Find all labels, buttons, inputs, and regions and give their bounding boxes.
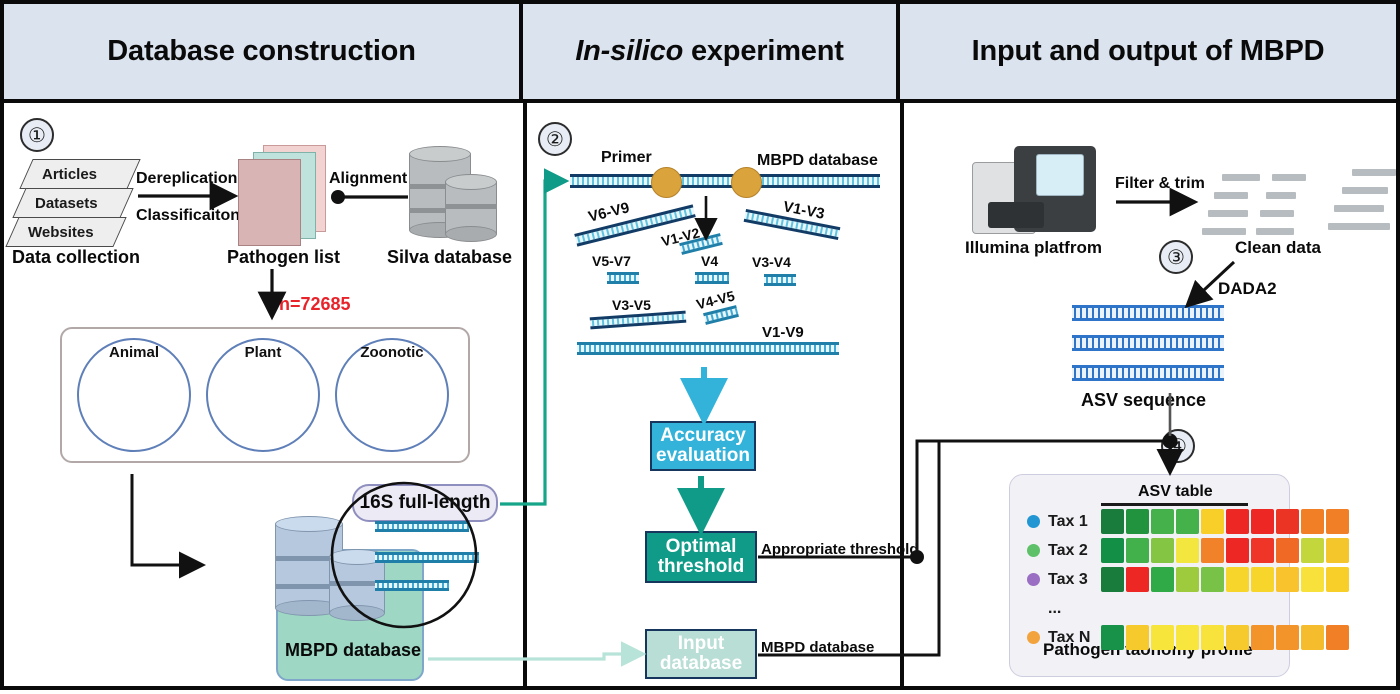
heatmap-cell	[1251, 509, 1274, 534]
tax-label: Tax 1	[1048, 513, 1088, 531]
illumina-screen	[1036, 154, 1084, 196]
clean-read-bar	[1354, 205, 1384, 212]
heatmap-cell	[1126, 567, 1149, 592]
tax-dot	[1027, 573, 1040, 586]
accuracy-evaluation-box[interactable]: Accuracy evaluation	[650, 421, 756, 471]
heatmap-cell	[1151, 625, 1174, 650]
heatmap-cell	[1176, 625, 1199, 650]
badge-16s-label: 16S full-length	[360, 492, 491, 514]
document-label-websites: Websites	[28, 224, 94, 241]
alignment-label: Alignment	[329, 170, 407, 188]
panel-divider-1	[523, 103, 527, 686]
heatmap-cell	[1101, 567, 1124, 592]
amplicon-label-v3-v5: V3-V5	[612, 297, 651, 313]
amplicon-v3-v4	[764, 274, 796, 286]
pathogen-sheet-front	[238, 159, 301, 246]
amplicon-label-v1-v9: V1-V9	[762, 324, 804, 341]
heatmap-row	[1101, 538, 1349, 563]
input-line-2: database	[660, 654, 742, 674]
clean-read-bar	[1214, 192, 1248, 199]
edge-label-mbpd-database: MBPD database	[761, 639, 874, 656]
heatmap-cell	[1276, 538, 1299, 563]
clean-read-bar	[1202, 228, 1246, 235]
clean-read-bar	[1354, 223, 1390, 230]
tax-label: Tax 2	[1048, 542, 1088, 560]
panel-header-input-output: Input and output of MBPD	[900, 4, 1396, 103]
heatmap-cell	[1276, 509, 1299, 534]
asv-table-label: ASV table	[1138, 483, 1213, 501]
panel2-title-rest: experiment	[683, 35, 844, 67]
classification-label: Classificaiton	[136, 207, 240, 225]
optimal-line-2: threshold	[658, 557, 745, 577]
asv-sequence-label: ASV sequence	[1081, 390, 1206, 411]
primer-bead-left	[651, 167, 682, 198]
heatmap-cell	[1101, 538, 1124, 563]
step-marker-3: ③	[1159, 240, 1193, 274]
clean-read-bar	[1354, 187, 1388, 194]
silva-label: Silva database	[387, 247, 512, 268]
tax-dot	[1027, 515, 1040, 528]
input-line-1: Input	[678, 634, 724, 654]
panel-header-in-silico: In-silico experiment	[523, 4, 900, 103]
heatmap-cell	[1326, 625, 1349, 650]
document-label-articles: Articles	[42, 166, 97, 183]
magnified-dna-strand-3	[375, 580, 449, 591]
heatmap-cell	[1201, 538, 1224, 563]
clean-read-bar	[1272, 174, 1306, 181]
filter-trim-label: Filter & trim	[1115, 175, 1205, 193]
heatmap-cell	[1101, 509, 1124, 534]
heatmap-cell	[1251, 538, 1274, 563]
category-label-plant: Plant	[206, 344, 320, 361]
magnified-dna-strand-1	[375, 521, 469, 532]
amplicon-v1-v9	[577, 342, 839, 355]
heatmap-cell	[1301, 509, 1324, 534]
panel-header-database-construction: Database construction	[4, 4, 523, 103]
step-marker-1: ①	[20, 118, 54, 152]
panel2-title: In-silico experiment	[575, 35, 843, 68]
pathogen-count-label: n=72685	[279, 294, 351, 315]
heatmap-cell	[1226, 538, 1249, 563]
primer-label: Primer	[601, 149, 652, 167]
asv-strand-3	[1072, 365, 1224, 381]
heatmap-cell	[1176, 538, 1199, 563]
heatmap-cell	[1151, 567, 1174, 592]
clean-data-label: Clean data	[1235, 238, 1321, 258]
amplicon-label-v3-v4: V3-V4	[752, 254, 791, 270]
template-dna-strand	[570, 174, 880, 188]
mbpd-db-label-panel2: MBPD database	[757, 152, 878, 170]
dereplication-label: Dereplication	[136, 170, 237, 188]
tax-label: ...	[1048, 600, 1061, 618]
heatmap-cell	[1126, 538, 1149, 563]
heatmap-cell	[1201, 625, 1224, 650]
heatmap-row	[1101, 509, 1349, 534]
heatmap-cell	[1326, 538, 1349, 563]
heatmap-cell	[1276, 567, 1299, 592]
category-label-zoonotic: Zoonotic	[335, 344, 449, 361]
data-collection-label: Data collection	[12, 247, 140, 268]
heatmap-cell	[1301, 538, 1324, 563]
panel-divider-2	[900, 103, 904, 686]
badge-16s-full-length: 16S full-length	[352, 484, 498, 522]
dada2-label: DADA2	[1218, 279, 1277, 299]
panel1-title: Database construction	[107, 35, 415, 68]
illumina-tray	[988, 202, 1044, 228]
heatmap-cell	[1226, 509, 1249, 534]
tax-dot	[1027, 544, 1040, 557]
tax-dot	[1027, 631, 1040, 644]
category-label-animal: Animal	[77, 344, 191, 361]
accuracy-line-2: evaluation	[656, 446, 750, 466]
mbpd-database-label: MBPD database	[285, 640, 421, 661]
heatmap-cell	[1251, 625, 1274, 650]
heatmap-cell	[1201, 509, 1224, 534]
panel3-title: Input and output of MBPD	[972, 35, 1325, 68]
heatmap-cell	[1326, 509, 1349, 534]
accuracy-line-1: Accuracy	[660, 426, 746, 446]
asv-strand-2	[1072, 335, 1224, 351]
pathogen-list-label: Pathogen list	[227, 247, 340, 268]
tax-label: Tax 3	[1048, 571, 1088, 589]
heatmap-cell	[1226, 625, 1249, 650]
heatmap-cell	[1276, 625, 1299, 650]
document-label-datasets: Datasets	[35, 195, 98, 212]
heatmap-cell	[1201, 567, 1224, 592]
heatmap-cell	[1151, 538, 1174, 563]
optimal-threshold-box[interactable]: Optimal threshold	[645, 531, 757, 583]
clean-read-bar	[1266, 192, 1296, 199]
clean-read-bar	[1354, 169, 1394, 176]
asv-strand-1	[1072, 305, 1224, 321]
optimal-line-1: Optimal	[666, 537, 737, 557]
asv-table-rule	[1101, 503, 1248, 506]
heatmap-cell	[1301, 625, 1324, 650]
amplicon-label-v4: V4	[701, 253, 718, 269]
silva-cylinder-front	[445, 174, 497, 242]
heatmap-cell	[1326, 567, 1349, 592]
clean-read-bar	[1208, 210, 1248, 217]
primer-bead-right	[731, 167, 762, 198]
amplicon-label-v5-v7: V5-V7	[592, 253, 631, 269]
heatmap-row	[1101, 567, 1349, 592]
illumina-label: Illumina platfrom	[965, 238, 1102, 258]
heatmap-cell	[1176, 509, 1199, 534]
heatmap-cell	[1226, 567, 1249, 592]
panel2-title-italic: In-silico	[575, 35, 683, 67]
figure-canvas: Database construction In-silico experime…	[0, 0, 1400, 690]
input-database-box[interactable]: Input database	[645, 629, 757, 679]
edge-label-appropriate-threshold: Appropriate threshold	[761, 541, 919, 558]
heatmap-cell	[1176, 567, 1199, 592]
heatmap-cell	[1126, 625, 1149, 650]
heatmap-cell	[1251, 567, 1274, 592]
step-marker-2: ②	[538, 122, 572, 156]
magnified-dna-strand-2	[375, 552, 479, 563]
step-marker-4: ④	[1161, 429, 1195, 463]
tax-label: Tax N	[1048, 629, 1090, 647]
heatmap-row	[1101, 625, 1349, 650]
amplicon-v4	[695, 272, 729, 284]
heatmap-cell	[1151, 509, 1174, 534]
heatmap-cell	[1301, 567, 1324, 592]
amplicon-v5-v7	[607, 272, 639, 284]
clean-read-bar	[1222, 174, 1260, 181]
heatmap-cell	[1101, 625, 1124, 650]
amplicon-v3-v5	[590, 311, 687, 330]
heatmap-cell	[1126, 509, 1149, 534]
clean-read-bar	[1256, 228, 1294, 235]
clean-read-bar	[1260, 210, 1294, 217]
